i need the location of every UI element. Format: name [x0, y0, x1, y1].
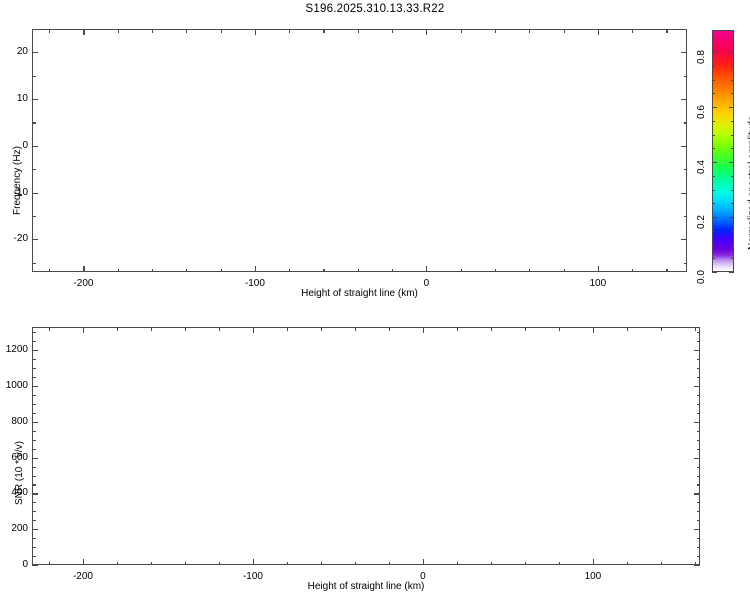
snr-x-axis-label: Height of straight line (km) — [0, 581, 732, 592]
spectrogram-xtick — [289, 269, 290, 273]
snr-ytick-right — [697, 332, 701, 333]
spectrogram-xtick-top — [529, 29, 530, 33]
spectrogram-xtick — [255, 266, 256, 272]
snr-ytick — [32, 422, 38, 423]
spectrogram-ytick-right — [681, 146, 687, 147]
page-title: S196.2025.310.13.33.R22 — [0, 3, 750, 15]
spectrogram-xtick-top — [598, 29, 599, 35]
colorbar-tick-right — [729, 107, 734, 108]
snr-ytick-label: 800 — [0, 416, 28, 427]
spectrogram-image — [32, 29, 687, 272]
snr-ytick-label: 200 — [0, 523, 28, 534]
snr-xtick — [49, 562, 50, 566]
spectrogram-ytick — [32, 216, 36, 217]
snr-xtick-top — [423, 327, 424, 333]
colorbar-gradient — [713, 31, 733, 271]
spectrogram-xtick — [564, 269, 565, 273]
colorbar-tick-right — [729, 217, 734, 218]
snr-ytick — [32, 458, 38, 459]
snr-xtick — [525, 562, 526, 566]
colorbar-tick — [712, 272, 717, 273]
snr-ytick — [32, 476, 36, 477]
spectrogram-ytick-label: 10 — [0, 93, 28, 104]
snr-ytick-right — [697, 404, 701, 405]
spectrogram-xtick-top — [392, 29, 393, 33]
snr-ytick — [32, 377, 36, 378]
spectrogram-xtick-top — [495, 29, 496, 33]
snr-xtick — [491, 562, 492, 566]
snr-ytick-right — [697, 520, 701, 521]
spectrogram-ytick-right — [684, 216, 688, 217]
snr-ytick — [32, 511, 36, 512]
colorbar-tick-right — [731, 176, 734, 177]
spectrogram-xtick — [598, 266, 599, 272]
spectrogram-ytick-right — [681, 193, 687, 194]
spectrogram-xtick — [83, 266, 84, 272]
snr-ytick — [32, 395, 36, 396]
snr-xtick — [389, 562, 390, 566]
spectrogram-xtick-top — [255, 29, 256, 35]
colorbar-tick — [712, 38, 715, 39]
spectrogram-y-axis-label: Frequency (Hz) — [12, 146, 23, 215]
snr-xtick-top — [627, 327, 628, 331]
spectrogram-ytick-right — [684, 263, 688, 264]
snr-xtick-top — [593, 327, 594, 333]
spectrogram-xtick — [426, 266, 427, 272]
spectrogram-panel — [32, 29, 687, 272]
colorbar-tick — [712, 93, 715, 94]
spectrogram-xtick-top — [83, 29, 84, 35]
spectrogram-xtick — [323, 269, 324, 273]
snr-xtick — [627, 562, 628, 566]
snr-xtick-top — [287, 327, 288, 331]
colorbar-tick — [712, 245, 715, 246]
snr-ytick — [32, 547, 36, 548]
colorbar-tick-right — [731, 258, 734, 259]
snr-ytick — [32, 431, 36, 432]
snr-ytick — [32, 404, 36, 405]
spectrogram-xtick-top — [221, 29, 222, 33]
snr-ytick — [32, 368, 36, 369]
snr-xtick — [457, 562, 458, 566]
spectrogram-ytick — [32, 76, 36, 77]
spectrogram-xtick — [186, 269, 187, 273]
snr-xtick — [423, 559, 424, 565]
snr-panel — [32, 327, 700, 565]
snr-y-axis-label: SNR (10 * v/v) — [14, 441, 25, 505]
snr-xtick-top — [525, 327, 526, 331]
figure-root: S196.2025.310.13.33.R22 -200-1000100-20-… — [0, 0, 750, 600]
colorbar-tick-label: 0.6 — [696, 105, 707, 119]
snr-xtick — [593, 559, 594, 565]
colorbar-tick — [712, 162, 717, 163]
snr-ytick-right — [697, 538, 701, 539]
spectrogram-xtick — [358, 269, 359, 273]
spectrogram-xtick-top — [118, 29, 119, 33]
spectrogram-xtick — [666, 269, 667, 273]
snr-xtick-top — [491, 327, 492, 331]
spectrogram-xtick-top — [426, 29, 427, 35]
snr-ytick-right — [694, 422, 700, 423]
colorbar-tick-right — [731, 203, 734, 204]
snr-xtick-top — [457, 327, 458, 331]
colorbar-tick — [712, 190, 715, 191]
colorbar-tick-right — [731, 190, 734, 191]
colorbar-tick-right — [731, 231, 734, 232]
spectrogram-ytick — [32, 122, 36, 123]
colorbar-tick — [712, 121, 715, 122]
colorbar-tick — [712, 66, 715, 67]
snr-ytick-label: 1200 — [0, 344, 28, 355]
spectrogram-ytick — [32, 263, 36, 264]
spectrogram-xtick — [461, 269, 462, 273]
snr-xtick-top — [321, 327, 322, 331]
colorbar-tick — [712, 135, 715, 136]
spectrogram-xtick — [392, 269, 393, 273]
spectrogram-ytick — [32, 169, 36, 170]
snr-ytick-right — [697, 341, 701, 342]
snr-ytick-right — [697, 431, 701, 432]
colorbar-tick — [712, 217, 717, 218]
snr-ytick — [32, 332, 36, 333]
snr-ytick-right — [694, 350, 700, 351]
snr-ytick-label: 0 — [0, 559, 28, 570]
snr-ytick — [32, 565, 38, 566]
snr-ytick-right — [697, 440, 701, 441]
spectrogram-xtick-top — [632, 29, 633, 33]
colorbar-tick-right — [729, 272, 734, 273]
colorbar-tick-right — [729, 52, 734, 53]
spectrogram-xtick-top — [323, 29, 324, 33]
spectrogram-xtick-top — [666, 29, 667, 33]
colorbar-tick-right — [731, 245, 734, 246]
colorbar-tick-right — [731, 66, 734, 67]
spectrogram-xtick — [221, 269, 222, 273]
colorbar-tick — [712, 176, 715, 177]
spectrogram-ytick-right — [681, 99, 687, 100]
snr-ytick — [32, 538, 36, 539]
colorbar-tick-right — [731, 121, 734, 122]
spectrogram-ytick-right — [684, 122, 688, 123]
spectrogram-xtick — [495, 269, 496, 273]
snr-ytick-right — [697, 413, 701, 414]
colorbar-tick — [712, 80, 715, 81]
spectrogram-xtick — [632, 269, 633, 273]
spectrogram-ytick-right — [684, 29, 688, 30]
spectrogram-xtick-top — [186, 29, 187, 33]
colorbar-tick — [712, 203, 715, 204]
snr-xtick — [559, 562, 560, 566]
snr-ytick — [32, 341, 36, 342]
spectrogram-xtick — [118, 269, 119, 273]
snr-ytick-right — [697, 395, 701, 396]
snr-xtick-top — [355, 327, 356, 331]
snr-ytick — [32, 502, 36, 503]
snr-ytick-right — [697, 547, 701, 548]
colorbar-tick — [712, 258, 715, 259]
spectrogram-ytick — [32, 146, 38, 147]
spectrogram-ytick — [32, 193, 38, 194]
colorbar-tick-label: 0.2 — [696, 215, 707, 229]
snr-ytick-label: 1000 — [0, 380, 28, 391]
snr-ytick-right — [697, 368, 701, 369]
spectrogram-ytick-label: 20 — [0, 46, 28, 57]
snr-xtick — [287, 562, 288, 566]
spectrogram-x-axis-label: Height of straight line (km) — [0, 288, 719, 299]
snr-xtick-top — [117, 327, 118, 331]
colorbar-tick-right — [731, 148, 734, 149]
snr-ytick — [32, 359, 36, 360]
snr-ytick-right — [697, 359, 701, 360]
colorbar-tick-label: 0.0 — [696, 270, 707, 284]
snr-ytick — [32, 413, 36, 414]
spectrogram-ytick — [32, 99, 38, 100]
snr-xtick-top — [253, 327, 254, 333]
snr-ytick-right — [697, 502, 701, 503]
snr-xtick-top — [49, 327, 50, 331]
snr-ytick-right — [697, 484, 701, 485]
snr-xtick — [83, 559, 84, 565]
snr-xtick-top — [389, 327, 390, 331]
colorbar-tick-label: 0.8 — [696, 50, 707, 64]
snr-ytick — [32, 556, 36, 557]
colorbar-tick-right — [731, 38, 734, 39]
spectrogram-xtick-top — [152, 29, 153, 33]
colorbar-tick — [712, 231, 715, 232]
snr-ytick-right — [694, 493, 700, 494]
snr-ytick-right — [694, 386, 700, 387]
snr-xtick-top — [661, 327, 662, 331]
spectrogram-xtick-top — [358, 29, 359, 33]
colorbar-tick-right — [731, 93, 734, 94]
snr-xtick — [321, 562, 322, 566]
snr-ytick — [32, 529, 38, 530]
spectrogram-ytick-right — [684, 76, 688, 77]
snr-ytick — [32, 520, 36, 521]
colorbar-tick-right — [731, 80, 734, 81]
colorbar-tick — [712, 52, 717, 53]
snr-xtick — [253, 559, 254, 565]
spectrogram-xtick — [529, 269, 530, 273]
spectrogram-xtick — [49, 269, 50, 273]
spectrogram-ytick — [32, 52, 38, 53]
spectrogram-xtick-top — [461, 29, 462, 33]
colorbar-tick — [712, 107, 717, 108]
snr-xtick-top — [219, 327, 220, 331]
colorbar-tick-label: 0.4 — [696, 160, 707, 174]
snr-ytick — [32, 440, 36, 441]
snr-xtick-top — [695, 327, 696, 331]
snr-ytick-right — [697, 467, 701, 468]
spectrogram-ytick — [32, 29, 36, 30]
snr-ytick — [32, 484, 36, 485]
snr-ytick-right — [697, 511, 701, 512]
snr-ytick — [32, 449, 36, 450]
colorbar-tick — [712, 148, 715, 149]
snr-xtick — [117, 562, 118, 566]
snr-xtick — [219, 562, 220, 566]
snr-ytick-right — [697, 556, 701, 557]
snr-xtick-top — [83, 327, 84, 333]
snr-xtick-top — [151, 327, 152, 331]
snr-ytick — [32, 386, 38, 387]
snr-ytick — [32, 467, 36, 468]
snr-xtick — [661, 562, 662, 566]
snr-ytick — [32, 350, 38, 351]
snr-xtick-top — [559, 327, 560, 331]
colorbar-tick-right — [729, 162, 734, 163]
spectrogram-ytick — [32, 239, 38, 240]
spectrogram-xtick-top — [49, 29, 50, 33]
snr-ytick-right — [697, 377, 701, 378]
snr-ytick — [32, 493, 38, 494]
spectrogram-ytick-right — [681, 239, 687, 240]
snr-xtick-top — [185, 327, 186, 331]
spectrogram-ytick-right — [684, 169, 688, 170]
snr-ytick-right — [694, 458, 700, 459]
snr-xtick — [151, 562, 152, 566]
spectrogram-xtick — [152, 269, 153, 273]
spectrogram-xtick-top — [289, 29, 290, 33]
snr-ytick-right — [697, 449, 701, 450]
snr-ytick-right — [697, 476, 701, 477]
spectrogram-ytick-right — [681, 52, 687, 53]
spectrogram-xtick-top — [564, 29, 565, 33]
snr-xtick — [355, 562, 356, 566]
snr-ytick-right — [694, 529, 700, 530]
spectrogram-ytick-label: -20 — [0, 233, 28, 244]
snr-xtick — [185, 562, 186, 566]
snr-line-plot — [32, 327, 700, 565]
snr-ytick-right — [694, 565, 700, 566]
colorbar-tick-right — [731, 135, 734, 136]
